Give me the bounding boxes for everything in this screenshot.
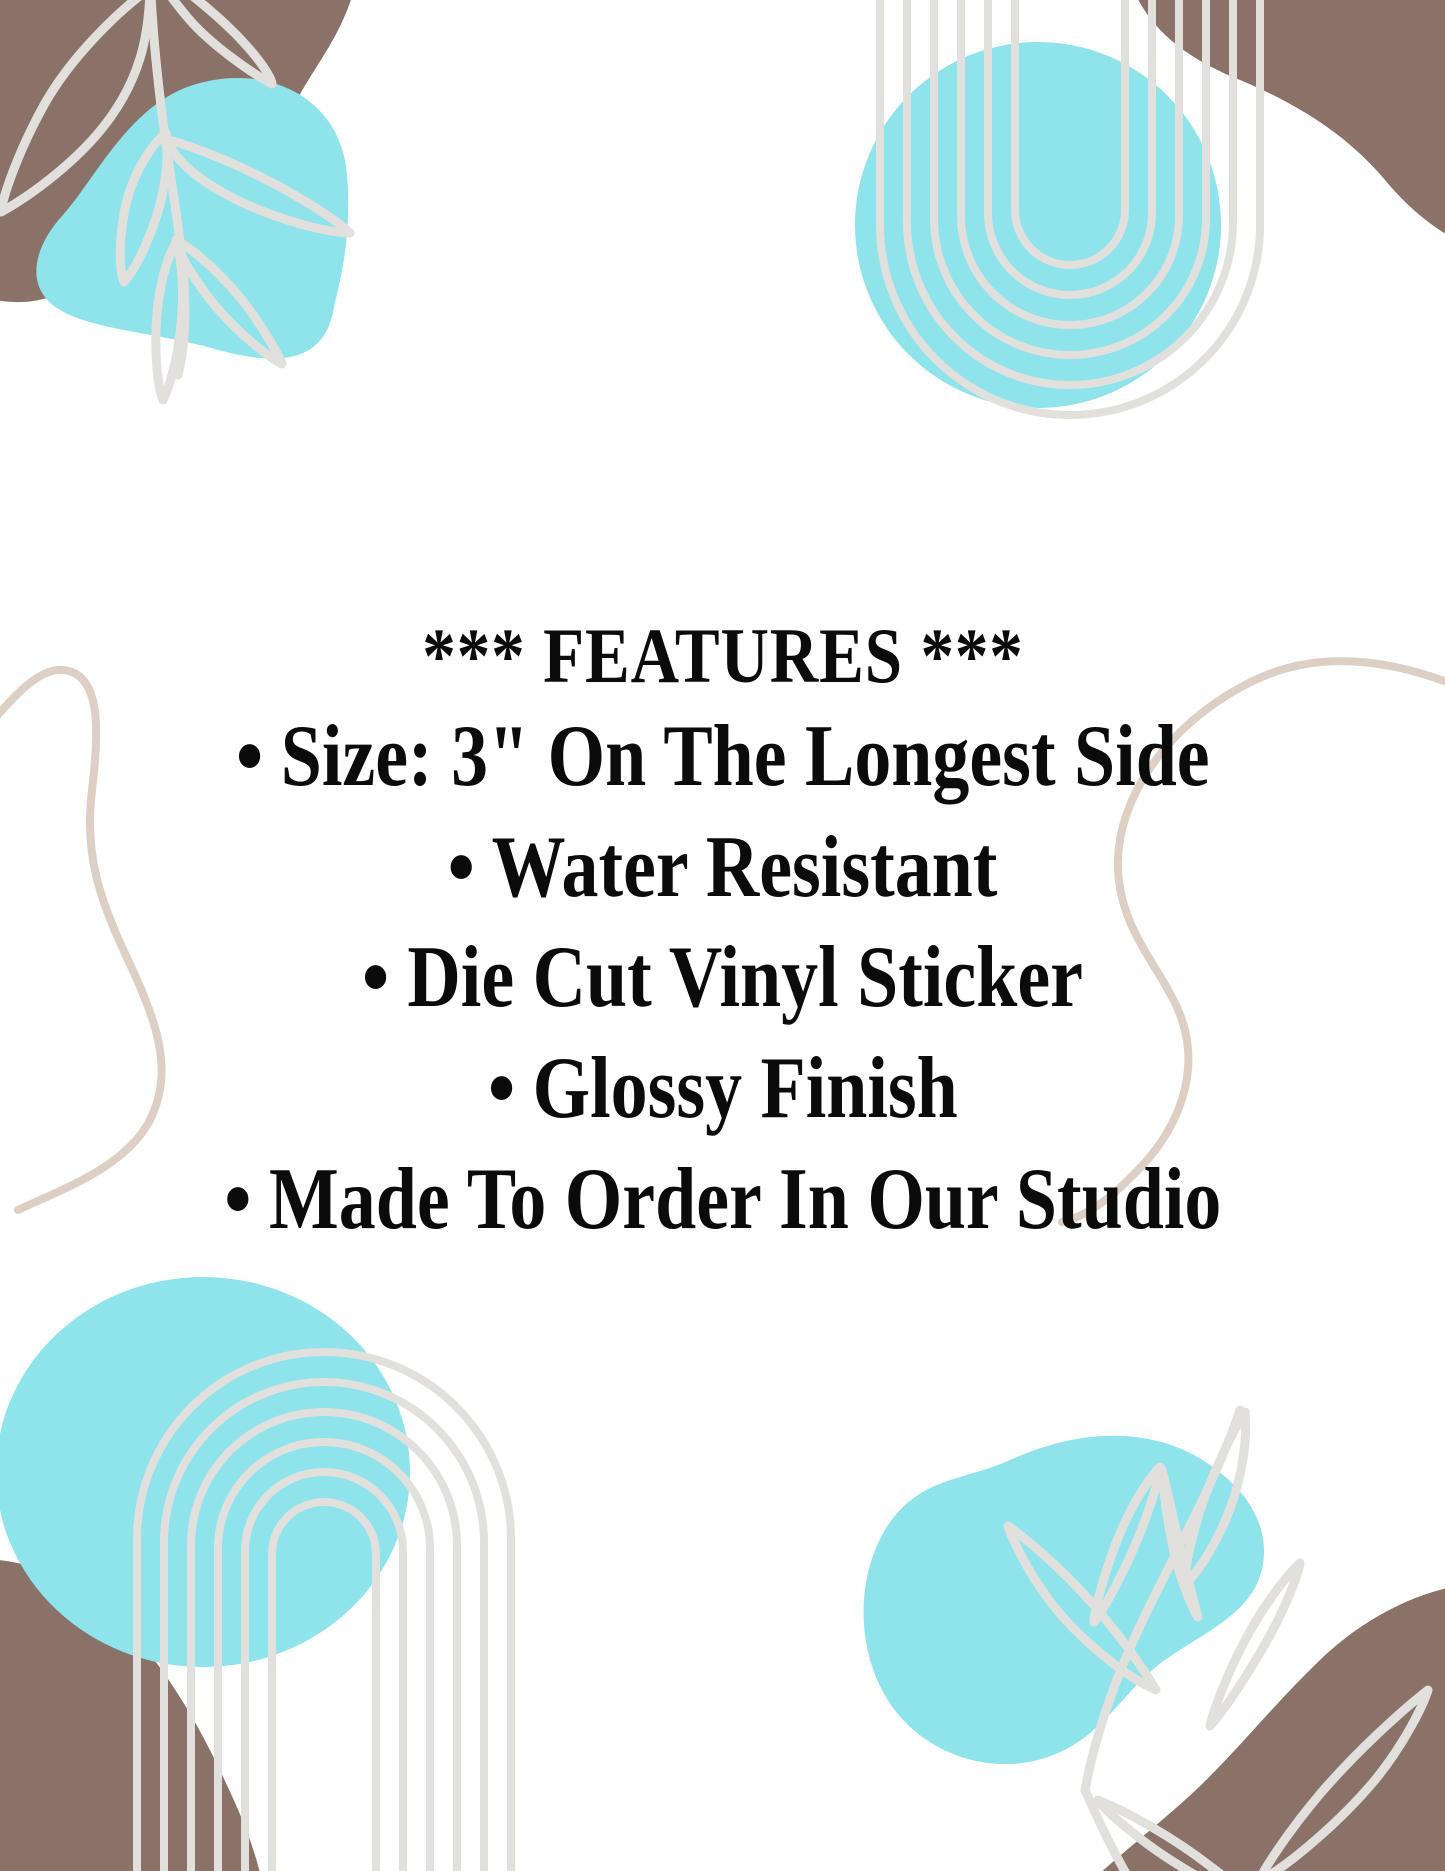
bullet-dot-icon: •	[487, 1034, 514, 1145]
feature-item-glossy-finish: • Glossy Finish	[185, 1034, 1260, 1145]
feature-item-label: Die Cut Vinyl Sticker	[407, 929, 1083, 1026]
feature-item-made-to-order: • Made To Order In Our Studio	[185, 1145, 1260, 1256]
feature-item-size: • Size: 3" On The Longest Side	[185, 702, 1260, 813]
feature-item-die-cut: • Die Cut Vinyl Sticker	[185, 923, 1260, 1034]
feature-item-label: Water Resistant	[491, 819, 997, 916]
bullet-dot-icon: •	[223, 1145, 250, 1256]
features-block: *** FEATURES *** • Size: 3" On The Longe…	[83, 615, 1363, 1256]
features-title: *** FEATURES ***	[172, 615, 1273, 698]
feature-item-water-resistant: • Water Resistant	[185, 813, 1260, 924]
bullet-dot-icon: •	[362, 923, 389, 1034]
feature-item-label: Glossy Finish	[532, 1040, 957, 1137]
feature-item-label: Size: 3" On The Longest Side	[280, 708, 1209, 805]
features-bullet-list: • Size: 3" On The Longest Side • Water R…	[83, 702, 1363, 1256]
bullet-dot-icon: •	[235, 702, 262, 813]
features-content: *** FEATURES *** • Size: 3" On The Longe…	[0, 0, 1445, 1871]
feature-item-label: Made To Order In Our Studio	[269, 1151, 1221, 1248]
bullet-dot-icon: •	[447, 813, 474, 924]
features-poster: *** FEATURES *** • Size: 3" On The Longe…	[0, 0, 1445, 1871]
